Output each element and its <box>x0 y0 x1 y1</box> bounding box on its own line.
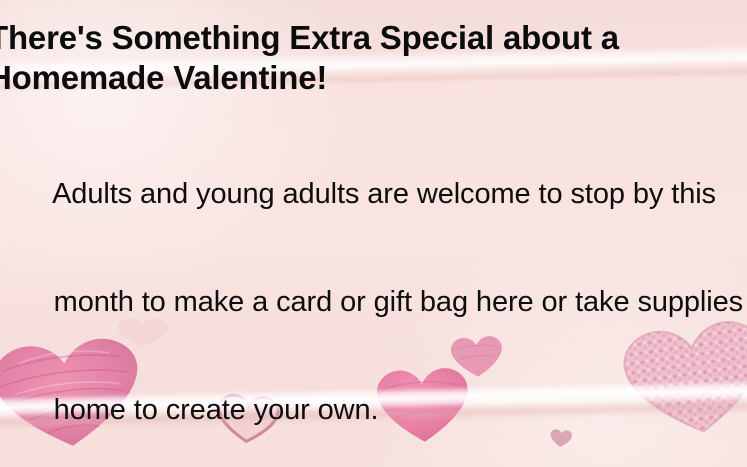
headline: There's Something Extra Special about a … <box>0 18 747 98</box>
body-line-2: month to make a card or gift bag here or… <box>0 248 747 356</box>
body-line-3: home to create your own. <box>0 356 747 464</box>
body-text-block: Adults and young adults are welcome to s… <box>0 140 747 467</box>
body-line-3-text: home to create your own. <box>54 394 379 426</box>
valentine-announcement-slide: There's Something Extra Special about a … <box>0 0 747 467</box>
body-line-1-text: Adults and young adults are welcome to s… <box>52 178 716 210</box>
text-layer: There's Something Extra Special about a … <box>0 0 747 467</box>
body-line-2-text: month to make a card or gift bag here or… <box>54 286 743 318</box>
body-line-1: Adults and young adults are welcome to s… <box>0 140 747 248</box>
